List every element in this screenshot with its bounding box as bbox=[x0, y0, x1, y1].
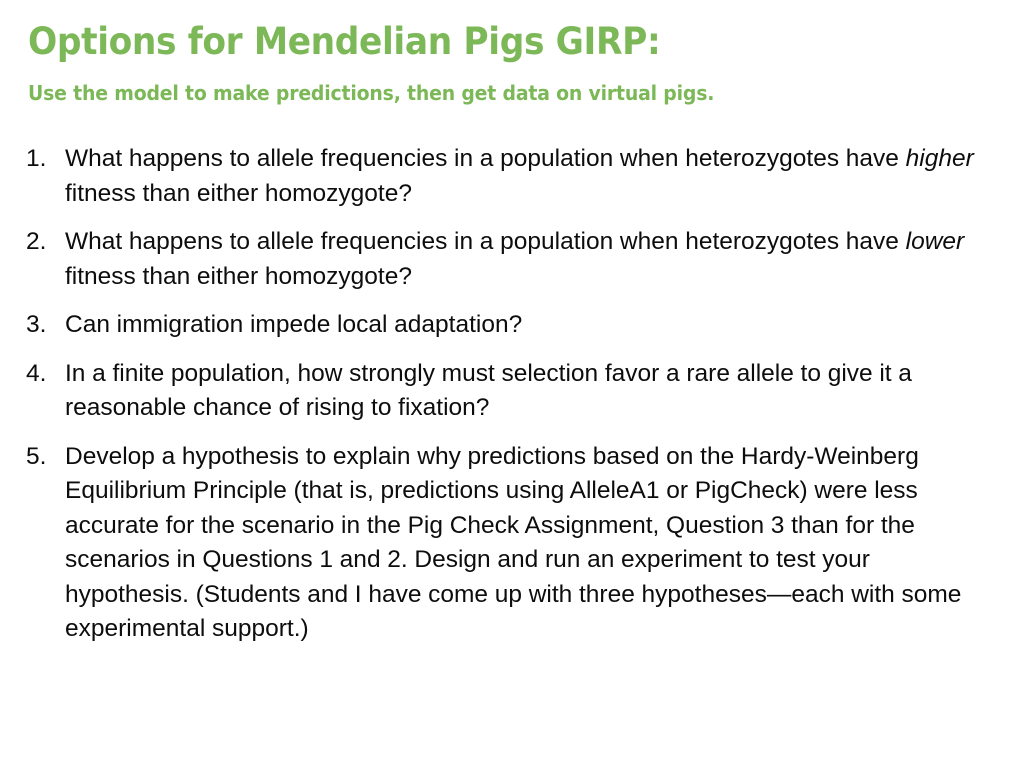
list-item-text: In a finite population, how strongly mus… bbox=[65, 357, 998, 426]
question-text-after: fitness than either homozygote? bbox=[65, 180, 412, 207]
question-text-before: Develop a hypothesis to explain why pred… bbox=[65, 443, 961, 643]
list-item-text: What happens to allele frequencies in a … bbox=[65, 142, 998, 211]
list-item-number: 4. bbox=[26, 357, 56, 392]
list-item: 3. Can immigration impede local adaptati… bbox=[26, 308, 998, 343]
question-list: 1. What happens to allele frequencies in… bbox=[26, 142, 998, 647]
list-item: 5. Develop a hypothesis to explain why p… bbox=[26, 440, 998, 647]
list-item-text: Can immigration impede local adaptation? bbox=[65, 308, 998, 343]
question-text-before: What happens to allele frequencies in a … bbox=[65, 145, 906, 172]
question-text-before: Can immigration impede local adaptation? bbox=[65, 311, 522, 338]
list-item-text: Develop a hypothesis to explain why pred… bbox=[65, 440, 998, 647]
question-emphasis: lower bbox=[906, 228, 965, 255]
list-item-text: What happens to allele frequencies in a … bbox=[65, 225, 998, 294]
list-item: 1. What happens to allele frequencies in… bbox=[26, 142, 998, 211]
list-item-number: 1. bbox=[26, 142, 56, 177]
question-emphasis: higher bbox=[906, 145, 974, 172]
list-item: 4. In a finite population, how strongly … bbox=[26, 357, 998, 426]
question-text-after: fitness than either homozygote? bbox=[65, 263, 412, 290]
list-item-number: 5. bbox=[26, 440, 56, 475]
title-block: Options for Mendelian Pigs GIRP: Use the… bbox=[28, 18, 988, 108]
page-subtitle: Use the model to make predictions, then … bbox=[28, 78, 911, 108]
question-text-before: In a finite population, how strongly mus… bbox=[65, 360, 912, 422]
list-item: 2. What happens to allele frequencies in… bbox=[26, 225, 998, 294]
list-item-number: 3. bbox=[26, 308, 56, 343]
slide-canvas: Options for Mendelian Pigs GIRP: Use the… bbox=[0, 0, 1024, 768]
list-item-number: 2. bbox=[26, 225, 56, 260]
question-text-before: What happens to allele frequencies in a … bbox=[65, 228, 906, 255]
page-title: Options for Mendelian Pigs GIRP: bbox=[28, 18, 921, 66]
